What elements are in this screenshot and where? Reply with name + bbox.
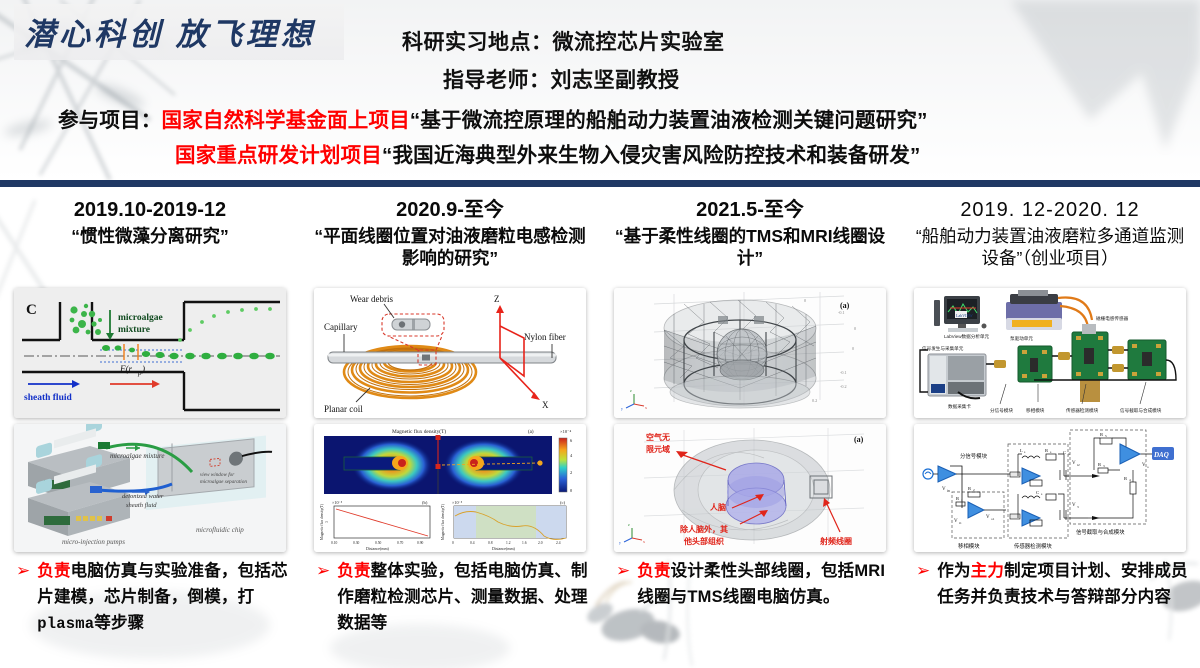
svg-text:空气无: 空气无: [646, 432, 670, 442]
bullet-3-body: 设计柔性头部线圈，包括MRI线圈与TMS线圈电脑仿真。: [637, 562, 885, 606]
svg-text:2.0: 2.0: [538, 541, 543, 545]
svg-text:LabVIEW: LabVIEW: [956, 313, 973, 318]
svg-text:数据采集卡: 数据采集卡: [948, 403, 971, 410]
signal-circuit-block-diagram: 移相模块 传感器检测模块 信号截取与合成模块 分信号模块 V in: [914, 424, 1186, 552]
column-1-title: “惯性微藻分离研究”: [8, 225, 292, 247]
column-4-date: 2019. 12-2020. 12: [908, 199, 1192, 223]
svg-text:microalgae mixture: microalgae mixture: [110, 452, 165, 460]
svg-text:z: z: [628, 522, 630, 527]
column-2-date: 2020.9-至今: [308, 199, 592, 223]
svg-text:2: 2: [570, 470, 572, 475]
svg-text:Planar coil: Planar coil: [324, 404, 363, 414]
svg-text:V: V: [986, 515, 990, 520]
svg-text:LabView数据分析单元: LabView数据分析单元: [944, 333, 990, 340]
svg-text:Magnetic flux density(T): Magnetic flux density(T): [441, 503, 445, 540]
planar-coil-capillary-schematic: Wear debris Capillary Planar coil Nylon …: [314, 288, 586, 418]
svg-text:×10⁻⁵: ×10⁻⁵: [452, 500, 463, 505]
svg-text:1.2: 1.2: [506, 541, 511, 545]
svg-text:x: x: [645, 405, 647, 410]
column-2-bullet: ➢ 负责整体实验，包括电脑仿真、制作磨粒检测芯片、测量数据、处理数据等: [316, 558, 594, 636]
svg-text:0.70: 0.70: [397, 541, 403, 545]
svg-text:磁栅电感传感器: 磁栅电感传感器: [1096, 315, 1129, 322]
project-1-title: “基于微流控原理的船舶动力装置油液检测关键问题研究”: [410, 109, 928, 132]
svg-text:microfluidic chip: microfluidic chip: [196, 526, 244, 534]
svg-text:0.90: 0.90: [417, 541, 423, 545]
svg-text:V: V: [942, 487, 946, 492]
svg-text:Nylon fiber: Nylon fiber: [524, 332, 566, 342]
head-coil-simulation-domain: (a): [614, 424, 886, 552]
project-1-name: 国家自然科学基金面上项目: [162, 109, 410, 132]
svg-text:Magnetic flux density(T): Magnetic flux density(T): [320, 503, 324, 540]
svg-text:他头部组织: 他头部组织: [683, 536, 724, 546]
column-3-bullet: ➢ 负责设计柔性头部线圈，包括MRI线圈与TMS线圈电脑仿真。: [616, 558, 894, 610]
bullet-1-highlight: 负责: [37, 562, 70, 580]
svg-text:0.8: 0.8: [488, 541, 493, 545]
column-3-date: 2021.5-至今: [608, 199, 892, 223]
svg-text:泵驱动单元: 泵驱动单元: [1010, 335, 1033, 342]
svg-text:C: C: [26, 302, 37, 318]
bullet-2-body: 整体实验，包括电脑仿真、制作磨粒检测芯片、测量数据、处理数据等: [337, 562, 588, 632]
column-3-heading: 2021.5-至今 “基于柔性线圈的TMS和MRI线圈设计”: [608, 190, 892, 269]
svg-text:传感器检测模块: 传感器检测模块: [1014, 542, 1052, 550]
svg-text:×10⁻⁴: ×10⁻⁴: [560, 429, 572, 434]
svg-text:4: 4: [1129, 478, 1131, 482]
svg-text:(a): (a): [528, 430, 534, 435]
svg-text:0.10: 0.10: [331, 541, 337, 545]
project-columns: 2019.10-2019-12 “惯性微藻分离研究” C: [0, 190, 1200, 668]
svg-text:deionized water: deionized water: [122, 493, 164, 500]
svg-text:V: V: [1072, 461, 1076, 466]
micro-injection-pump-setup-photo: view window for microalgae separation mi…: [14, 424, 286, 552]
svg-text:o: o: [1147, 465, 1149, 469]
svg-text:X: X: [542, 400, 549, 410]
svg-text:0: 0: [452, 541, 454, 545]
svg-text:in: in: [947, 489, 950, 493]
internship-location-value: 微流控芯片实验室: [553, 31, 725, 54]
svg-text:×10⁻⁵: ×10⁻⁵: [332, 500, 343, 505]
column-3-bullet-text: 负责设计柔性头部线圈，包括MRI线圈与TMS线圈电脑仿真。: [637, 558, 894, 610]
project-2-title: “我国近海典型外来生物入侵灾害风险防控技术和装备研发”: [382, 144, 920, 167]
svg-text:0: 0: [852, 346, 854, 351]
svg-text:Z: Z: [494, 294, 500, 304]
project-column-1: 2019.10-2019-12 “惯性微藻分离研究” C: [0, 190, 300, 668]
column-2-title: “平面线圈位置对油液磨粒电感检测影响的研究”: [308, 225, 592, 269]
svg-text:i1: i1: [959, 521, 962, 525]
svg-text:V: V: [1072, 503, 1076, 508]
project-column-2: 2020.9-至今 “平面线圈位置对油液磨粒电感检测影响的研究”: [300, 190, 600, 668]
svg-text:(a): (a): [854, 435, 864, 444]
project-row-1: 参与项目：国家自然科学基金面上项目“基于微流控原理的船舶动力装置油液检测关键问题…: [58, 103, 928, 133]
column-4-heading: 2019. 12-2020. 12 “船舶动力装置油液磨粒多通道监测设备”（创业…: [908, 190, 1192, 269]
project-column-3: 2021.5-至今 “基于柔性线圈的TMS和MRI线圈设计” (a) 0-0.1…: [600, 190, 900, 668]
svg-text:0.50: 0.50: [375, 541, 381, 545]
svg-text:y: y: [619, 540, 621, 545]
bullet-arrow-icon: ➢: [16, 558, 30, 584]
svg-text:1: 1: [961, 498, 963, 502]
svg-text:sheath fluid: sheath fluid: [126, 502, 157, 509]
column-4-figures: LabVIEW LabView数据分析单元 信号发生与采集单元: [914, 288, 1186, 552]
svg-text:移相模块: 移相模块: [958, 542, 980, 550]
svg-text:0.30: 0.30: [353, 541, 359, 545]
project-column-4: 2019. 12-2020. 12 “船舶动力装置油液磨粒多通道监测设备”（创业…: [900, 190, 1200, 668]
svg-text:Wear debris: Wear debris: [350, 294, 394, 304]
column-2-bullet-text: 负责整体实验，包括电脑仿真、制作磨粒检测芯片、测量数据、处理数据等: [337, 558, 594, 636]
svg-text:3: 3: [325, 521, 329, 523]
svg-text:microalgae: microalgae: [118, 313, 163, 323]
svg-text:C: C: [1063, 450, 1066, 455]
svg-text:0.4: 0.4: [470, 541, 475, 545]
column-2-figures: Wear debris Capillary Planar coil Nylon …: [314, 288, 586, 552]
svg-text:y: y: [621, 406, 623, 411]
column-1-bullet-text: 负责电脑仿真与实验准备，包括芯片建模，芯片制备，倒模，打plasma等步骤: [37, 558, 294, 637]
bullet-1-mono: plasma: [37, 615, 94, 633]
column-2-heading: 2020.9-至今 “平面线圈位置对油液磨粒电感检测影响的研究”: [308, 190, 592, 269]
svg-text:F(r: F(r: [119, 364, 132, 374]
svg-text:0: 0: [854, 326, 856, 331]
svg-text:DAQ: DAQ: [1153, 451, 1169, 459]
svg-text:信号截取与合成模块: 信号截取与合成模块: [1076, 528, 1125, 536]
svg-text:view window for: view window for: [200, 471, 235, 478]
multichannel-monitoring-hardware-diagram: LabVIEW LabView数据分析单元 信号发生与采集单元: [914, 288, 1186, 418]
svg-text:0: 0: [804, 298, 806, 303]
svg-text:Capillary: Capillary: [324, 322, 358, 332]
svg-text:信号截取与合成模块: 信号截取与合成模块: [1120, 407, 1162, 414]
svg-text:传感器检测模块: 传感器检测模块: [1066, 407, 1099, 414]
svg-text:mixture: mixture: [118, 325, 150, 335]
svg-text:(a): (a): [840, 301, 850, 310]
svg-text:3: 3: [1077, 505, 1079, 509]
bullet-1-body: 电脑仿真与实验准备，包括芯片建模，芯片制备，倒模，打: [37, 562, 288, 606]
bullet-4-highlight: 主力: [971, 562, 1004, 580]
svg-text:): ): [141, 364, 145, 374]
bullet-3-highlight: 负责: [637, 562, 670, 580]
svg-text:人脑: 人脑: [710, 502, 726, 512]
svg-text:限元域: 限元域: [646, 444, 670, 454]
svg-text:信号发生与采集单元: 信号发生与采集单元: [922, 345, 964, 352]
svg-text:o1: o1: [991, 517, 995, 521]
svg-text:-0.2: -0.2: [840, 384, 847, 389]
column-4-title: “船舶动力装置油液磨粒多通道监测设备”（创业项目）: [908, 225, 1192, 269]
projects-label: 参与项目：: [58, 109, 162, 132]
project-2-name: 国家重点研发计划项目: [175, 144, 382, 167]
svg-text:micro-injection pumps: micro-injection pumps: [62, 538, 125, 546]
slide-header: 潜心科创 放飞理想 科研实习地点：微流控芯片实验室 指导老师：刘志坚副教授 参与…: [0, 0, 1200, 180]
bullet-arrow-icon: ➢: [916, 558, 930, 584]
svg-text:(b): (b): [422, 500, 428, 505]
svg-text:z: z: [630, 388, 632, 393]
svg-text:分信号模块: 分信号模块: [960, 452, 988, 460]
svg-text:分信号模块: 分信号模块: [990, 407, 1013, 414]
svg-text:C: C: [1036, 490, 1039, 495]
bullet-arrow-icon: ➢: [316, 558, 330, 584]
svg-text:i2: i2: [1077, 463, 1080, 467]
advisor-line: 指导老师：刘志坚副教授: [443, 64, 680, 94]
project-row-2: 国家重点研发计划项目“我国近海典型外来生物入侵灾害风险防控技术和装备研发”: [175, 138, 920, 168]
microalgae-separation-schematic: C: [14, 288, 286, 418]
svg-text:V: V: [954, 519, 958, 524]
internship-location-label: 科研实习地点：: [402, 31, 553, 54]
svg-text:sheath fluid: sheath fluid: [24, 393, 72, 403]
svg-text:x: x: [643, 539, 645, 544]
svg-text:除人脑外，其: 除人脑外，其: [680, 524, 728, 534]
svg-text:移相模块: 移相模块: [1026, 407, 1045, 414]
svg-text:L: L: [1020, 448, 1023, 453]
bullet-2-highlight: 负责: [337, 562, 370, 580]
svg-text:Magnetic flux density(T): Magnetic flux density(T): [392, 428, 446, 435]
svg-text:V: V: [1142, 463, 1146, 468]
svg-text:射频线圈: 射频线圈: [819, 536, 852, 546]
coil-mesh-model-3d: (a) 0-0.10 0-0.1-0.20.2: [614, 288, 886, 418]
column-3-title: “基于柔性线圈的TMS和MRI线圈设计”: [608, 225, 892, 269]
svg-text:microalgae separation: microalgae separation: [200, 479, 247, 485]
header-divider-bar: [0, 180, 1200, 187]
bullet-1-tail: 等步骤: [94, 614, 144, 632]
svg-text:Distance(mm): Distance(mm): [366, 546, 390, 551]
column-1-figures: C: [14, 288, 286, 552]
slogan-text: 潜心科创 放飞理想: [24, 9, 344, 54]
svg-text:0.2: 0.2: [812, 398, 817, 403]
column-1-date: 2019.10-2019-12: [8, 199, 292, 223]
bullet-arrow-icon: ➢: [616, 558, 630, 584]
column-3-figures: (a) 0-0.10 0-0.1-0.20.2: [614, 288, 886, 552]
column-4-bullet: ➢ 作为主力制定项目计划、安排成员任务并负责技术与答辩部分内容: [916, 558, 1194, 610]
bullet-4-prefix: 作为: [937, 562, 970, 580]
svg-text:2: 2: [973, 488, 975, 492]
column-4-bullet-text: 作为主力制定项目计划、安排成员任务并负责技术与答辩部分内容: [937, 558, 1194, 610]
svg-text:2.4: 2.4: [556, 541, 561, 545]
column-1-heading: 2019.10-2019-12 “惯性微藻分离研究”: [8, 190, 292, 247]
svg-text:Distance(mm): Distance(mm): [492, 546, 516, 551]
column-1-bullet: ➢ 负责电脑仿真与实验准备，包括芯片建模，芯片制备，倒模，打plasma等步骤: [16, 558, 294, 637]
magnetic-flux-density-simulation: Magnetic flux density(T) (a) ×10⁻⁴: [314, 424, 586, 552]
svg-text:-0.1: -0.1: [838, 310, 845, 315]
svg-text:(c): (c): [560, 500, 566, 505]
svg-text:5: 5: [1105, 434, 1107, 438]
svg-text:3: 3: [1103, 464, 1105, 468]
internship-location-line: 科研实习地点：微流控芯片实验室: [402, 26, 725, 56]
svg-text:-0.1: -0.1: [840, 370, 847, 375]
svg-text:1.6: 1.6: [522, 541, 527, 545]
svg-text:p: p: [1068, 452, 1070, 456]
